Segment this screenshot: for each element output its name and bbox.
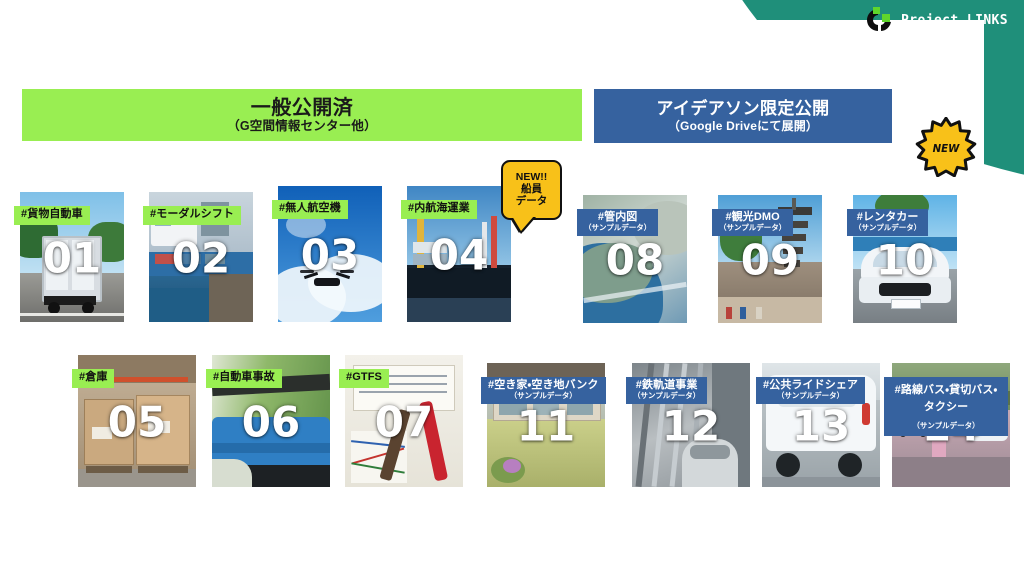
card-10[interactable]: 10 #レンタカー （サンプルデータ） [853, 195, 957, 323]
card-06[interactable]: 06 #自動車事故 [212, 355, 330, 487]
card-14[interactable]: 14 #路線バス・貸切バス・タクシー（サンプルデータ） [892, 363, 1010, 487]
card-14-tag-label: #路線バス・貸切バス・タクシー [895, 384, 998, 413]
card-06-tag-label: #自動車事故 [213, 372, 275, 384]
card-12-tag-sublabel: （サンプルデータ） [633, 392, 700, 400]
banner-ideathon-title: アイデアソン限定公開 [656, 99, 829, 119]
card-01-tag: #貨物自動車 [14, 206, 90, 225]
card-09-tag-sublabel: （サンプルデータ） [719, 224, 786, 232]
card-03-tag: #無人航空機 [272, 200, 348, 219]
bubble-tail [512, 216, 534, 231]
card-06-tag: #自動車事故 [206, 369, 282, 388]
card-02-tag: #モーダルシフト [143, 206, 241, 225]
card-03[interactable]: 03 #無人航空機 [278, 186, 382, 322]
card-04-tag: #内航海運業 [401, 200, 477, 219]
brand-logo: Project LINKS [864, 6, 1008, 34]
new-badge-label: NEW [933, 144, 960, 155]
card-02-tag-label: #モーダルシフト [150, 209, 234, 221]
bubble-line-3: データ [516, 196, 548, 208]
new-starburst-badge: NEW [912, 117, 980, 177]
brand-logo-text: Project LINKS [901, 13, 1008, 28]
card-11[interactable]: 11 #空き家・空き地バンク （サンプルデータ） [487, 363, 605, 487]
card-11-tag-sublabel: （サンプルデータ） [488, 392, 599, 400]
card-05-tag-label: #倉庫 [79, 372, 107, 384]
banner-public-subtitle: （G空間情報センター他） [227, 119, 377, 133]
card-01[interactable]: 01 #貨物自動車 [20, 192, 124, 322]
card-04-tag-label: #内航海運業 [408, 203, 470, 215]
banner-public-title: 一般公開済 [251, 97, 354, 119]
card-11-tag: #空き家・空き地バンク （サンプルデータ） [481, 377, 606, 404]
card-14-tag-sublabel: （サンプルデータ） [912, 421, 979, 430]
card-12-tag: #鉄軌道事業 （サンプルデータ） [626, 377, 707, 404]
card-13-tag-sublabel: （サンプルデータ） [763, 392, 858, 400]
card-08[interactable]: 08 #管内図 （サンプルデータ） [583, 195, 687, 323]
card-09[interactable]: 09 #観光DMO （サンプルデータ） [718, 195, 822, 323]
card-12[interactable]: 12 #鉄軌道事業 （サンプルデータ） [632, 363, 750, 487]
card-13-tag: #公共ライドシェア （サンプルデータ） [756, 377, 865, 404]
card-03-tag-label: #無人航空機 [279, 203, 341, 215]
slide-canvas: Project LINKS 一般公開済 （G空間情報センター他） アイデアソン限… [0, 0, 1024, 576]
banner-public: 一般公開済 （G空間情報センター他） [22, 89, 582, 141]
card-14-tag: #路線バス・貸切バス・タクシー（サンプルデータ） [884, 377, 1008, 436]
card-02[interactable]: 02 #モーダルシフト [149, 192, 253, 322]
project-links-mark-icon [864, 6, 894, 34]
banner-ideathon-subtitle: （Google Driveにて展開） [668, 119, 818, 133]
banner-ideathon: アイデアソン限定公開 （Google Driveにて展開） [594, 89, 892, 143]
card-07-tag: #GTFS [339, 369, 389, 388]
card-10-tag: #レンタカー （サンプルデータ） [847, 209, 928, 236]
card-07[interactable]: 07 #GTFS [345, 355, 463, 487]
card-05[interactable]: 05 #倉庫 [78, 355, 196, 487]
card-08-tag-sublabel: （サンプルデータ） [584, 224, 651, 232]
card-09-tag: #観光DMO （サンプルデータ） [712, 209, 793, 236]
card-13[interactable]: 13 #公共ライドシェア （サンプルデータ） [762, 363, 880, 487]
card-10-tag-sublabel: （サンプルデータ） [854, 224, 921, 232]
card-05-tag: #倉庫 [72, 369, 114, 388]
card-07-tag-label: #GTFS [346, 372, 382, 384]
card-04[interactable]: 04 #内航海運業 [407, 186, 511, 322]
new-crew-data-bubble: NEW!! 船員 データ [501, 160, 562, 220]
card-01-tag-label: #貨物自動車 [21, 209, 83, 221]
card-08-tag: #管内図 （サンプルデータ） [577, 209, 658, 236]
